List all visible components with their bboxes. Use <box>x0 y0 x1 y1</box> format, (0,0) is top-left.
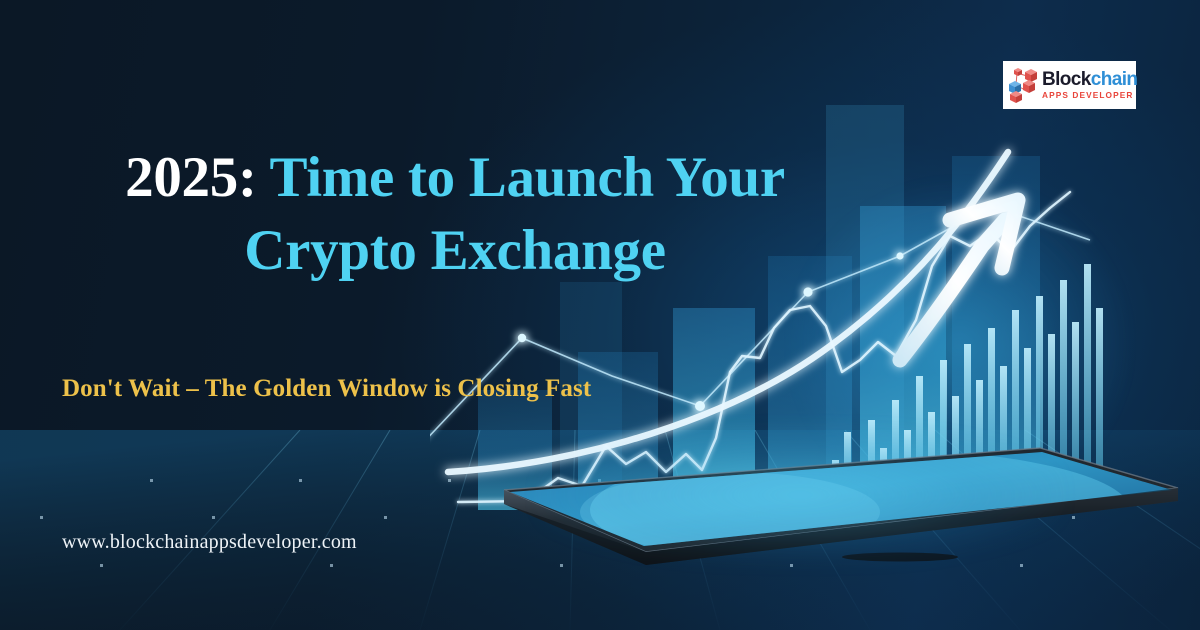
promo-banner: 2025: Time to Launch Your Crypto Exchang… <box>0 0 1200 630</box>
logo-tagline: APPS DEVELOPER <box>1042 91 1137 99</box>
logo-name: Blockchain <box>1042 70 1137 89</box>
logo-name-part-two: chain <box>1091 69 1138 90</box>
headline-year: 2025: <box>125 146 256 209</box>
website-url: www.blockchainappsdeveloper.com <box>62 531 357 554</box>
brand-logo[interactable]: Blockchain APPS DEVELOPER <box>1003 61 1136 109</box>
subheadline: Don't Wait – The Golden Window is Closin… <box>62 375 591 403</box>
blockchain-cubes-icon <box>1008 67 1038 103</box>
page-title: 2025: Time to Launch Your Crypto Exchang… <box>60 142 850 288</box>
headline-rest: Time to Launch Your Crypto Exchange <box>244 146 785 282</box>
logo-name-part-one: Block <box>1042 69 1091 90</box>
logo-wordmark: Blockchain APPS DEVELOPER <box>1042 70 1137 99</box>
